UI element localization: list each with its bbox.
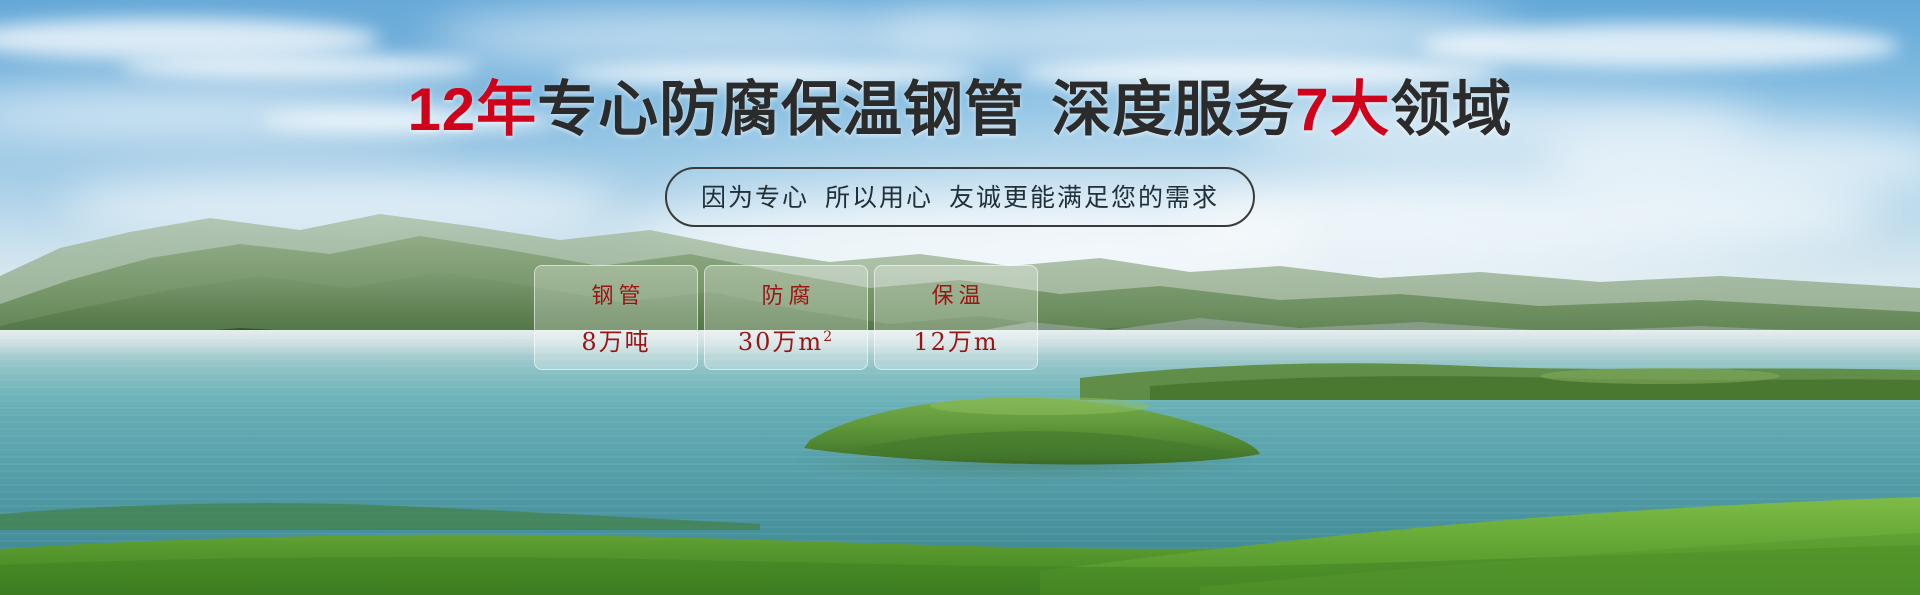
foreground-grass: [0, 475, 1920, 595]
stat-card-label: 保温: [926, 278, 985, 310]
headline-fields: 领域: [1391, 76, 1513, 143]
headline-service: 深度服务: [1051, 76, 1295, 143]
cloud-icon: [1420, 24, 1900, 68]
stat-card-value-text: 12万m: [913, 328, 998, 356]
stat-card-anticorrosion[interactable]: 防腐 30万m2: [704, 265, 868, 370]
stat-card-value: 30万m2: [738, 322, 834, 357]
stat-card-value-superscript: 2: [823, 329, 834, 345]
stat-card-label: 防腐: [756, 278, 815, 310]
headline-seven: 7大: [1295, 76, 1390, 143]
stat-card-insulation[interactable]: 保温 12万m: [874, 265, 1038, 370]
hero-banner: 12年专心防腐保温钢管深度服务7大领域 因为专心所以用心友诚更能满足您的需求 钢…: [0, 0, 1920, 595]
grass-island: [790, 388, 1270, 468]
subtitle-part-3: 友诚更能满足您的需求: [949, 184, 1219, 212]
page-title: 12年专心防腐保温钢管深度服务7大领域: [0, 80, 1920, 140]
subtitle-part-2: 所以用心: [825, 184, 933, 212]
stat-card-value-text: 30万m: [738, 328, 823, 356]
stat-card-value-text: 8万吨: [581, 328, 650, 356]
stat-card-value: 12万m: [913, 322, 998, 357]
stat-card-value: 8万吨: [581, 322, 650, 357]
headline-years: 12年: [407, 76, 537, 143]
stat-card-label: 钢管: [586, 278, 645, 310]
subtitle-part-1: 因为专心: [701, 184, 809, 212]
subtitle-pill: 因为专心所以用心友诚更能满足您的需求: [665, 167, 1255, 227]
headline-main: 专心防腐保温钢管: [537, 76, 1025, 143]
stat-card-steel-pipe[interactable]: 钢管 8万吨: [534, 265, 698, 370]
stat-card-group: 钢管 8万吨 防腐 30万m2 保温 12万m: [534, 265, 1038, 370]
